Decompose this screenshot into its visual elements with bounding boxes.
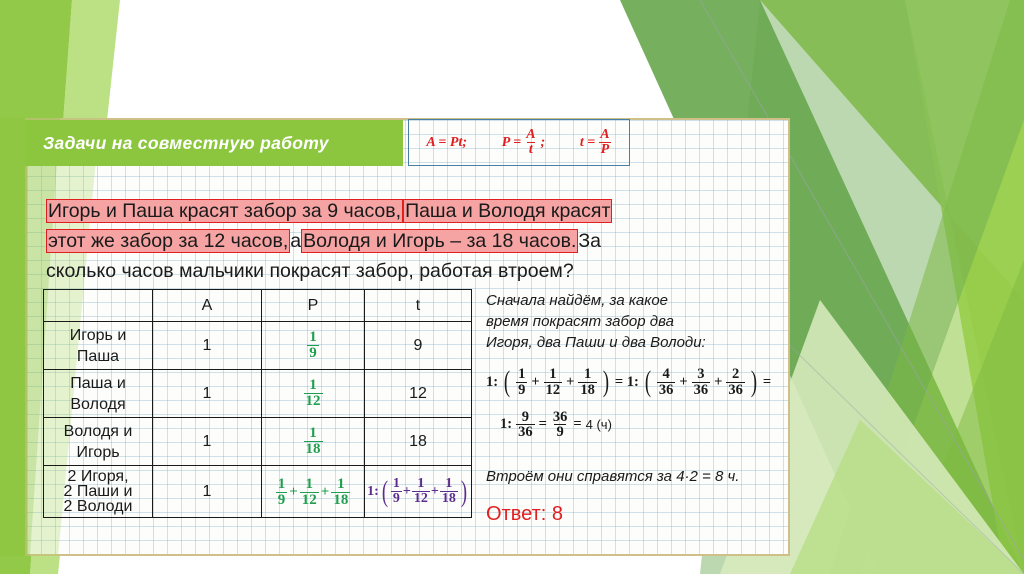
header-cell-t: t <box>365 290 472 322</box>
fraction-1-over-12: 1 12 <box>412 477 430 507</box>
problem-line-1: Игорь и Паша красят забор за 9 часов,Паш… <box>46 196 746 226</box>
row-label-two-of-each: 2 Игоря, 2 Паши и 2 Володи <box>44 466 153 518</box>
fraction-denominator: 12 <box>412 491 430 506</box>
formula-3-lhs: t = <box>580 135 595 151</box>
paren-open-2: ( <box>645 370 651 394</box>
fraction-numerator: 36 <box>551 410 570 425</box>
fraction-numerator: 9 <box>520 410 531 425</box>
plus-sign: + <box>403 484 411 500</box>
paren-close: ) <box>461 480 467 504</box>
table-row: Володя и Игорь 1 1 18 18 <box>44 418 472 466</box>
label-line-2: Паша <box>77 348 119 365</box>
fraction-numerator: 1 <box>307 426 319 441</box>
plus-sign: + <box>714 374 722 391</box>
paren-close: ) <box>603 370 609 394</box>
intro-line-3: Игоря, два Паши и два Володи: <box>486 332 786 353</box>
paren-close-2: ) <box>751 370 757 394</box>
fraction-denominator: 12 <box>304 393 323 409</box>
fraction-numerator: 1 <box>304 477 316 492</box>
header-cell-blank <box>44 290 153 322</box>
header-cell-p: P <box>262 290 365 322</box>
poly-mid-3 <box>780 260 1024 574</box>
fraction-denominator: 18 <box>331 492 350 508</box>
fraction-denominator: 36 <box>516 424 535 440</box>
plus-sign: + <box>566 374 574 391</box>
poly-light-1 <box>905 0 1024 574</box>
intro-line-2: время покрасят забор два <box>486 311 786 332</box>
table-row: Игорь и Паша 1 1 9 9 <box>44 322 472 370</box>
fraction-denominator: 9 <box>516 382 527 398</box>
problem-line-3: сколько часов мальчики покрасят забор, р… <box>46 256 746 286</box>
highlight-segment-1: Игорь и Паша красят забор за 9 часов, <box>46 199 403 223</box>
fraction-numerator: 3 <box>695 367 706 382</box>
cell-a-row1: 1 <box>153 322 262 370</box>
fraction-1-over-12: 1 12 <box>544 367 563 398</box>
conjunction-a: а <box>290 230 301 252</box>
poly-pale-2 <box>790 420 1024 574</box>
formula-2-tail: ; <box>541 135 546 151</box>
line2-tail: За <box>578 230 601 252</box>
cell-a-total: 1 <box>153 466 262 518</box>
fraction-numerator: 2 <box>730 367 741 382</box>
fraction-numerator: 1 <box>335 477 347 492</box>
formula-box: A = Pt; P = A t ; t = A P <box>408 119 630 166</box>
fraction-denominator: 12 <box>544 382 563 398</box>
problem-statement: Игорь и Паша красят забор за 9 часов,Паш… <box>46 196 746 286</box>
cell-p-total: 1 9 + 1 12 + 1 18 <box>262 466 365 518</box>
fraction-1-over-12: 1 12 <box>300 477 319 509</box>
cell-t-total: 1: ( 1 9 + 1 12 + 1 18 <box>365 466 472 518</box>
fraction-1-over-9: 1 9 <box>516 367 527 398</box>
fraction-numerator: 1 <box>516 367 527 382</box>
formula-1-text: A = Pt; <box>426 135 467 151</box>
fraction-numerator: 1 <box>276 477 288 492</box>
fraction-1-over-9: 1 9 <box>276 477 288 509</box>
fraction-1-over-18: 1 18 <box>440 477 458 507</box>
cell-t-row3: 18 <box>365 418 472 466</box>
fraction-numerator: 1 <box>391 477 402 491</box>
fraction-4-over-36: 4 36 <box>657 367 676 398</box>
eq1-tail: = <box>763 374 771 391</box>
fraction-denominator: 36 <box>657 382 676 398</box>
fraction-1-over-12: 1 12 <box>304 378 323 410</box>
fraction-3-over-36: 3 36 <box>692 367 711 398</box>
eq1-lead: 1: <box>486 374 498 391</box>
eq2-result: 4 (ч) <box>586 417 612 432</box>
paren-open: ( <box>382 480 388 504</box>
slide-title-bar: Задачи на совместную работу <box>25 120 403 166</box>
label-line-1: Игорь и <box>70 327 127 344</box>
fraction-numerator: A <box>524 128 537 142</box>
cell-p-row1: 1 9 <box>262 322 365 370</box>
sum-of-fractions: 1 9 + 1 12 + 1 18 <box>276 477 351 509</box>
cell-p-row3: 1 18 <box>262 418 365 466</box>
fraction-numerator: 1 <box>415 477 426 491</box>
highlight-segment-2: Паша и Володя красят <box>403 199 612 223</box>
fraction-9-over-36: 9 36 <box>516 410 535 441</box>
fraction-denominator: 18 <box>578 382 597 398</box>
highlight-segment-3: этот же забор за 12 часов, <box>46 229 290 253</box>
label-line-1: Володя и <box>64 423 133 440</box>
fraction-2-over-36: 2 36 <box>726 367 745 398</box>
solution-equation-1: 1: ( 1 9 + 1 12 + 1 18 ) = 1: ( 4 36 + <box>486 367 786 398</box>
solution-equation-2: 1: 9 36 = 36 9 = 4 (ч) <box>486 410 786 441</box>
formula-a-equals-pt: A = Pt; <box>426 135 467 151</box>
fraction-denominator: 36 <box>692 382 711 398</box>
plus-sign: + <box>289 484 298 501</box>
paren-open: ( <box>504 370 510 394</box>
intro-line-1: Сначала найдём, за какое <box>486 290 786 311</box>
problem-line-2: этот же забор за 12 часов,аВолодя и Игор… <box>46 226 746 256</box>
fraction-denominator: 18 <box>440 491 458 506</box>
equals-sign: = <box>539 416 547 433</box>
cell-p-row2: 1 12 <box>262 370 365 418</box>
solution-intro: Сначала найдём, за какое время покрасят … <box>486 290 786 353</box>
fraction-denominator: 9 <box>276 492 288 508</box>
fraction-denominator: 9 <box>391 491 402 506</box>
fraction-1-over-18: 1 18 <box>331 477 350 509</box>
solution-panel: Сначала найдём, за какое время покрасят … <box>486 290 786 526</box>
poly-mid-2 <box>830 0 1024 574</box>
fraction-numerator: 1 <box>582 367 593 382</box>
fraction-denominator: 36 <box>726 382 745 398</box>
label-line-3: 2 Володи <box>64 498 133 515</box>
row-label-igor-pasha: Игорь и Паша <box>44 322 153 370</box>
answer-text: Ответ: 8 <box>486 503 786 526</box>
solution-conclusion: Втроём они справятся за 4·2 = 8 ч. <box>486 466 786 487</box>
fraction-a-over-t: A t <box>524 128 537 158</box>
page-title: Задачи на совместную работу <box>43 133 329 154</box>
fraction-denominator: 9 <box>307 345 319 361</box>
poly-mid-1 <box>760 0 1024 574</box>
fraction-denominator: P <box>599 142 612 157</box>
slide: Задачи на совместную работу A = Pt; P = … <box>0 0 1024 574</box>
table-row: Паша и Володя 1 1 12 12 <box>44 370 472 418</box>
fraction-numerator: 4 <box>660 367 671 382</box>
fraction-1-over-18: 1 18 <box>304 426 323 458</box>
plus-sign: + <box>431 484 439 500</box>
formula-t-equals-a-over-p: t = A P <box>580 128 612 158</box>
fraction-numerator: 1 <box>307 330 319 345</box>
eq1-equals: = 1: <box>615 374 639 391</box>
formula-2-lhs: P = <box>502 135 522 151</box>
fraction-numerator: 1 <box>307 378 319 393</box>
label-line-1: Паша и <box>70 375 126 392</box>
fraction-denominator: 9 <box>554 424 565 440</box>
fraction-36-over-9: 36 9 <box>551 410 570 441</box>
fraction-a-over-p: A P <box>598 128 611 158</box>
row-label-pasha-volodya: Паша и Володя <box>44 370 153 418</box>
cell-a-row3: 1 <box>153 418 262 466</box>
plus-sign: + <box>679 374 687 391</box>
fraction-numerator: A <box>598 128 611 142</box>
one-divided-by-sum: 1: ( 1 9 + 1 12 + 1 18 <box>367 477 469 507</box>
cell-a-row2: 1 <box>153 370 262 418</box>
fraction-denominator: t <box>527 142 535 157</box>
label-line-2: Володя <box>70 396 125 413</box>
equals-sign-2: = <box>573 416 581 433</box>
formula-p-equals-a-over-t: P = A t ; <box>502 128 546 158</box>
fraction-1-over-18: 1 18 <box>578 367 597 398</box>
lead-one-colon: 1: <box>367 484 379 500</box>
fraction-denominator: 12 <box>300 492 319 508</box>
cell-t-row2: 12 <box>365 370 472 418</box>
fraction-1-over-9: 1 9 <box>307 330 319 362</box>
table-row-total: 2 Игоря, 2 Паши и 2 Володи 1 1 9 + 1 12 … <box>44 466 472 518</box>
plus-sign: + <box>531 374 539 391</box>
header-cell-a: A <box>153 290 262 322</box>
label-line-2: Игорь <box>76 444 119 461</box>
work-table: A P t Игорь и Паша 1 1 9 9 Паша и Володя <box>43 289 472 518</box>
plus-sign: + <box>321 484 330 501</box>
highlight-segment-4: Володя и Игорь – за 18 часов. <box>301 229 578 253</box>
fraction-1-over-9: 1 9 <box>391 477 402 507</box>
fraction-numerator: 1 <box>547 367 558 382</box>
cell-t-row1: 9 <box>365 322 472 370</box>
eq2-lead: 1: <box>500 416 512 433</box>
fraction-denominator: 18 <box>304 441 323 457</box>
table-header-row: A P t <box>44 290 472 322</box>
row-label-volodya-igor: Володя и Игорь <box>44 418 153 466</box>
fraction-numerator: 1 <box>443 477 454 491</box>
